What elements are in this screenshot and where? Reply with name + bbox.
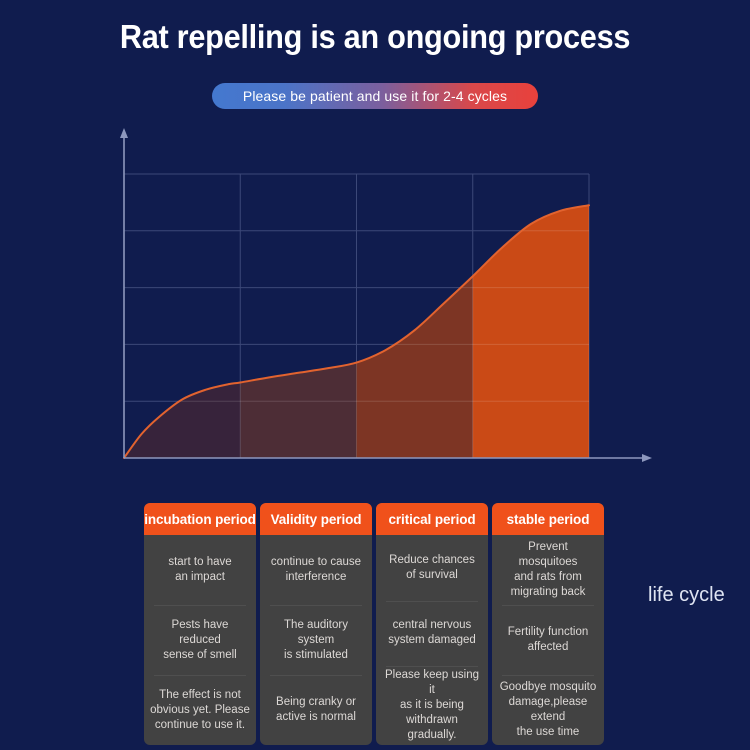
period-card-section: Prevent mosquitoesand rats frommigrating… [492,535,604,605]
period-card-section: Please keep using itas it is beingwithdr… [376,666,488,745]
period-card-section: central nervoussystem damaged [376,601,488,667]
period-card-body: continue to causeinterferenceThe auditor… [260,535,372,745]
subtitle-badge-label: Please be patient and use it for 2-4 cyc… [243,88,507,104]
period-card-section-text: Reduce chancesof survival [389,553,475,583]
period-card-body: start to havean impactPests have reduced… [144,535,256,745]
period-card-header: critical period [376,503,488,535]
chart-band-2 [240,120,356,458]
period-card-1[interactable]: incubation periodstart to havean impactP… [144,503,256,745]
period-card-section-text: The auditory systemis stimulated [266,618,366,663]
period-card-section-text: Fertility functionaffected [508,625,589,655]
chart-svg [100,120,660,490]
period-cards-row: incubation periodstart to havean impactP… [144,503,604,745]
period-card-header: stable period [492,503,604,535]
period-card-section-text: Prevent mosquitoesand rats frommigrating… [498,540,598,600]
period-card-3[interactable]: critical periodReduce chancesof survival… [376,503,488,745]
chart-band-3 [357,120,473,458]
period-card-section: Fertility functionaffected [492,605,604,675]
period-card-section: The auditory systemis stimulated [260,605,372,675]
period-card-section: Pests have reducedsense of smell [144,605,256,675]
period-card-section-text: Please keep using itas it is beingwithdr… [382,668,482,743]
period-card-section-text: The effect is notobvious yet. Pleasecont… [150,688,250,733]
period-card-4[interactable]: stable periodPrevent mosquitoesand rats … [492,503,604,745]
period-card-header: Validity period [260,503,372,535]
x-axis-label: life cycle [648,584,725,607]
period-card-section: Being cranky oractive is normal [260,675,372,745]
period-card-section-text: Pests have reducedsense of smell [150,618,250,663]
period-card-body: Prevent mosquitoesand rats frommigrating… [492,535,604,745]
period-card-section-text: Being cranky oractive is normal [276,695,356,725]
period-card-section: start to havean impact [144,535,256,605]
period-card-section: The effect is notobvious yet. Pleasecont… [144,675,256,745]
period-card-header: incubation period [144,503,256,535]
period-card-section: Reduce chancesof survival [376,535,488,601]
period-card-section-text: central nervoussystem damaged [388,618,476,648]
period-card-body: Reduce chancesof survivalcentral nervous… [376,535,488,745]
chart-band-4 [473,120,589,458]
period-card-section: continue to causeinterference [260,535,372,605]
period-card-2[interactable]: Validity periodcontinue to causeinterfer… [260,503,372,745]
page-title: Rat repelling is an ongoing process [26,18,724,56]
period-card-section-text: continue to causeinterference [271,555,361,585]
period-card-section: Goodbye mosquitodamage,pleaseextendthe u… [492,675,604,745]
period-card-section-text: Goodbye mosquitodamage,pleaseextendthe u… [500,680,597,740]
life-cycle-area-chart: life cycle [100,120,660,490]
subtitle-badge: Please be patient and use it for 2-4 cyc… [212,83,538,109]
chart-band-1 [124,120,240,458]
period-card-section-text: start to havean impact [168,555,231,585]
